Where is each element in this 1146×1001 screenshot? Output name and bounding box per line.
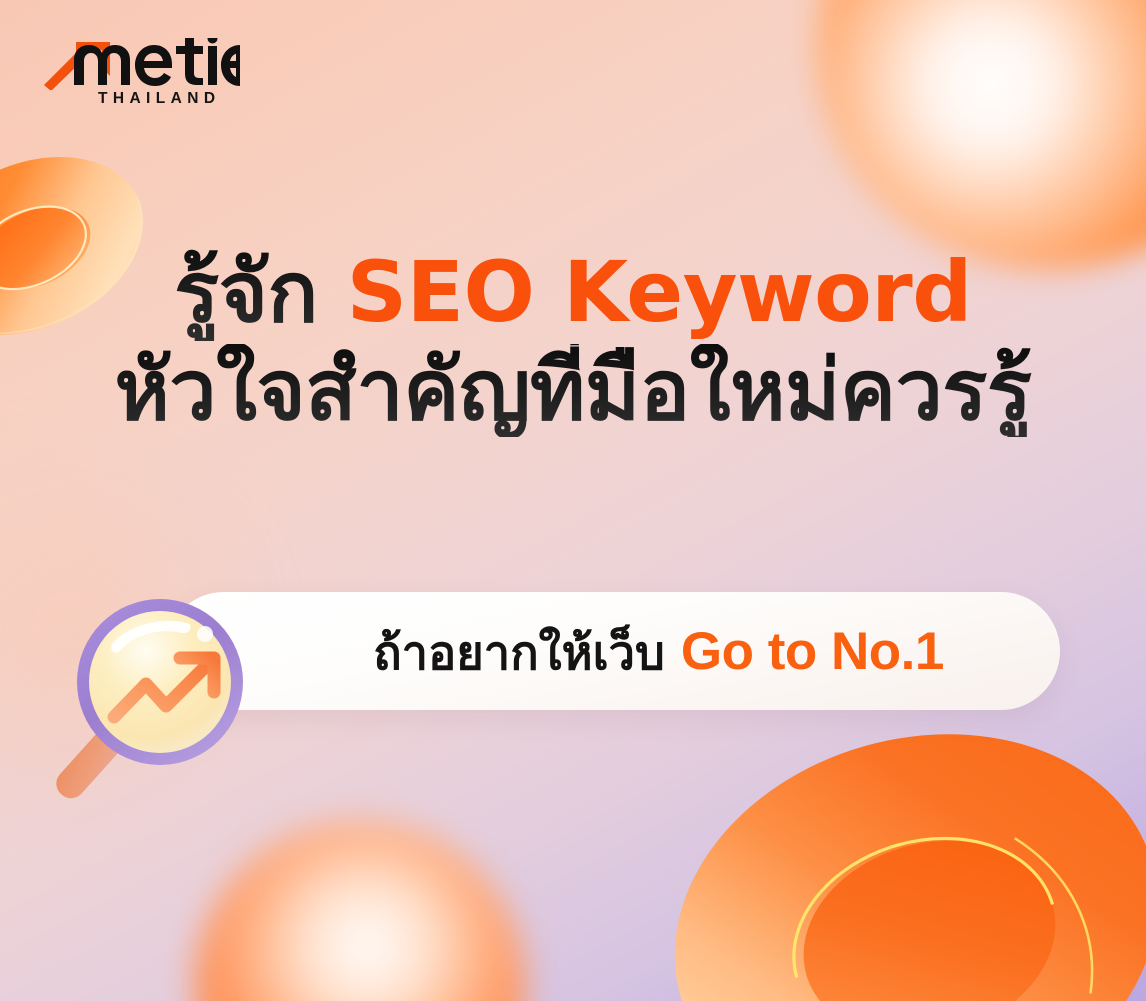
subtitle-banner-text: ถ้าอยากให้เว็บGo to No.1 xyxy=(373,625,944,678)
orange-glow-icon xyxy=(816,0,1146,270)
subtitle-text-dark: ถ้าอยากให้เว็บ xyxy=(373,626,665,681)
brand-logo[interactable]: THAILAND xyxy=(40,38,250,107)
poster-canvas: THAILAND รู้จัก SEO Keyword หัวใจสำคัญที… xyxy=(0,0,1146,1001)
orange-glow-icon xyxy=(195,821,525,1001)
headline-line-1-dark: รู้จัก xyxy=(174,243,318,341)
headline-line-2: หัวใจสำคัญที่มือใหม่ควรรู้ xyxy=(0,344,1146,436)
brand-country-label: THAILAND xyxy=(98,91,250,107)
magnifier-trending-up-icon xyxy=(42,572,282,820)
page-title: รู้จัก SEO Keyword หัวใจสำคัญที่มือใหม่ค… xyxy=(0,246,1146,437)
subtitle-text-accent: Go to No.1 xyxy=(681,622,944,681)
subtitle-banner: ถ้าอยากให้เว็บGo to No.1 xyxy=(165,592,1060,710)
headline-line-1-accent: SEO Keyword xyxy=(347,243,972,341)
headline-line-1: รู้จัก SEO Keyword xyxy=(0,246,1146,338)
torus-3d-shape-right xyxy=(666,679,1146,1001)
logo-wordmark xyxy=(40,38,240,90)
